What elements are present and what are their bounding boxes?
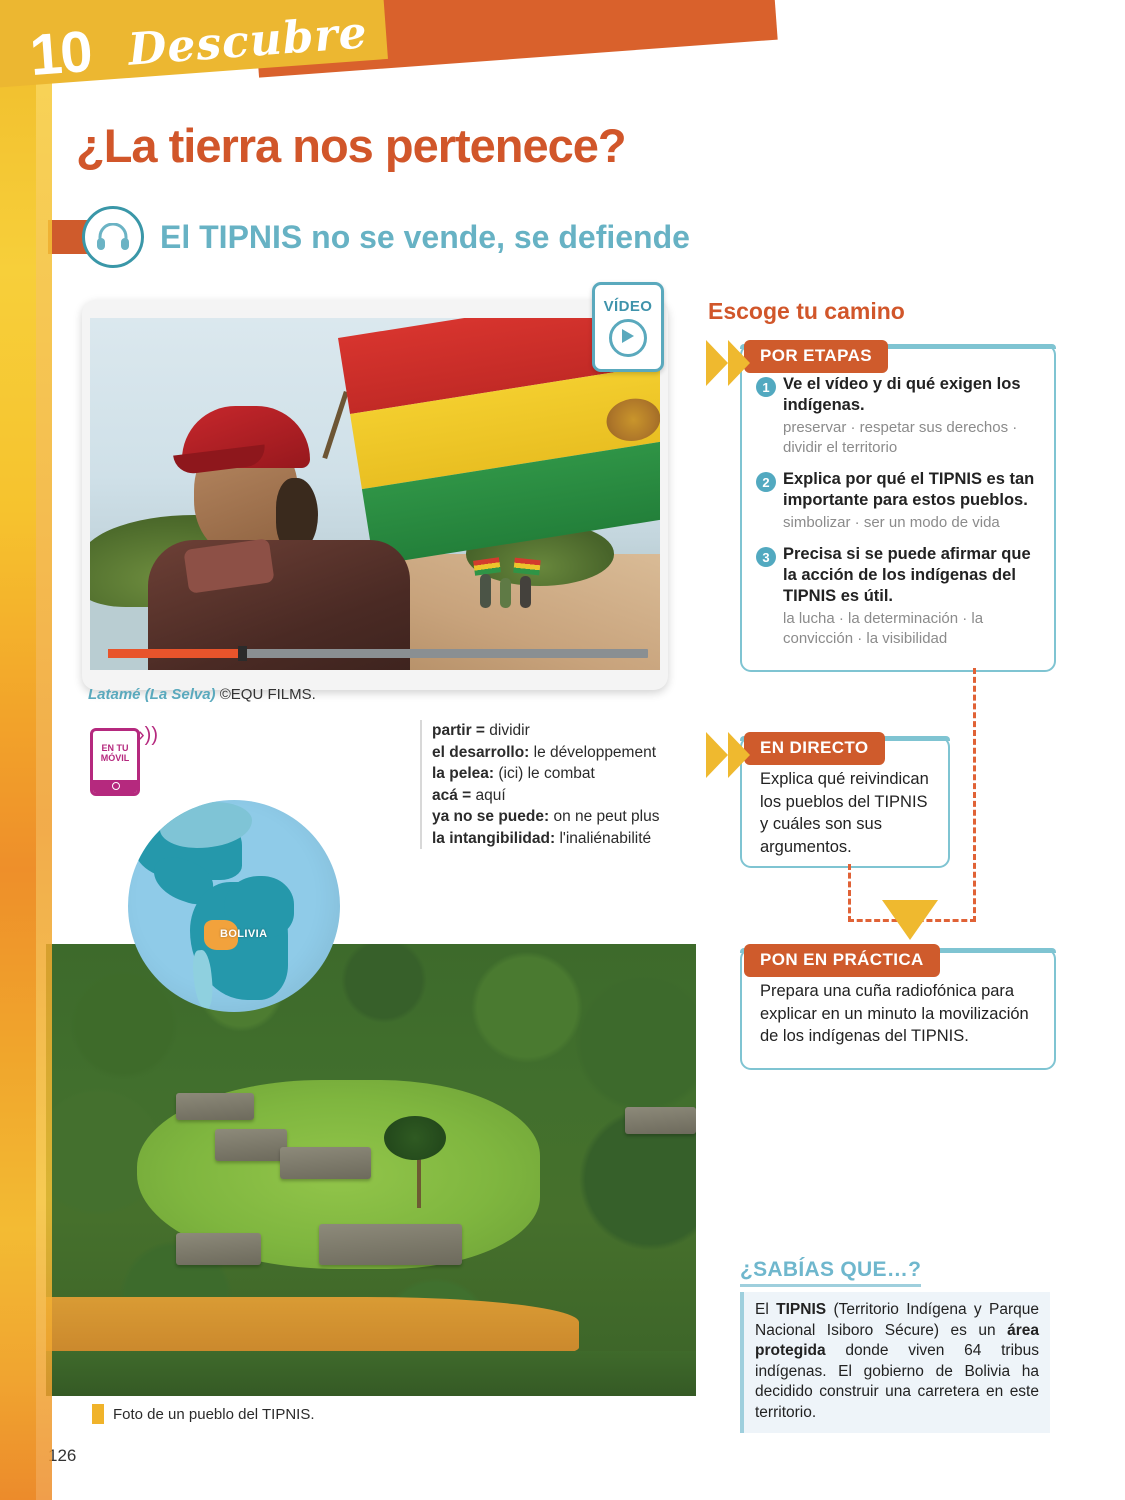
step-hint: simbolizar · ser un modo de vida [783, 513, 1042, 533]
section-subtitle: El TIPNIS no se vende, se defiende [160, 219, 690, 256]
video-frame[interactable] [90, 318, 660, 670]
headphones-icon [82, 206, 144, 268]
video-caption-credit: ©EQU FILMS. [216, 686, 316, 703]
video-badge[interactable]: VÍDEO [592, 282, 664, 372]
sabias-text: El [755, 1301, 776, 1318]
tag-pon-en-practica: PON EN PRÁCTICA [744, 944, 940, 977]
step-text: Precisa si se puede afirmar que la acció… [783, 544, 1042, 649]
sabias-que-heading: ¿SABÍAS QUE…? [740, 1258, 921, 1287]
photo-hut [319, 1224, 462, 1265]
photo-riverbank [46, 1351, 696, 1396]
video-card[interactable] [82, 300, 668, 690]
play-icon[interactable] [609, 319, 647, 357]
photo-palm-crown [384, 1116, 446, 1160]
mobile-line1: EN TU [102, 743, 129, 753]
globe-americas-icon: BOLIVIA [128, 800, 340, 1012]
vocab-item: acá = aquí [432, 785, 702, 807]
step-hint: la lucha · la determinación · la convicc… [783, 609, 1042, 649]
step-item: 1 Ve el vídeo y di qué exigen los indíge… [756, 374, 1042, 458]
vocab-item: el desarrollo: le développement [432, 742, 702, 764]
photo-hut [215, 1129, 287, 1161]
card-body-practica: Prepara una cuña radiofónica para explic… [760, 980, 1042, 1048]
tag-por-etapas: POR ETAPAS [744, 340, 888, 373]
connector-arrow-down-icon [882, 900, 938, 940]
vocab-item: la pelea: (ici) le combat [432, 763, 702, 785]
marchers-group [478, 556, 548, 608]
caption-accent-bar [92, 1404, 104, 1424]
vocab-item: partir = dividir [432, 720, 702, 742]
photo-hut [280, 1147, 371, 1179]
vocabulary-list: partir = dividir el desarrollo: le dével… [420, 720, 702, 849]
chevron-icon-directo [706, 732, 758, 778]
sabias-bold-term: TIPNIS [776, 1301, 826, 1318]
page-number: 126 [48, 1446, 76, 1466]
step-text: Ve el vídeo y di qué exigen los indígena… [783, 374, 1042, 458]
card-body-directo: Explica qué reivindican los pueblos del … [760, 768, 936, 858]
vocab-item: la intangibilidad: l'inaliénabilité [432, 828, 702, 850]
video-caption-title: Latamé (La Selva) [88, 686, 216, 703]
video-progress-fill [108, 649, 240, 658]
step-item: 3 Precisa si se puede afirmar que la acc… [756, 544, 1042, 649]
bolivia-label: BOLIVIA [220, 928, 267, 940]
vocab-item: ya no se puede: on ne peut plus [432, 806, 702, 828]
sabias-que-box: ¿SABÍAS QUE…? El TIPNIS (Territorio Indí… [740, 1258, 1050, 1433]
connector-line-vertical-left [848, 864, 851, 922]
photo-hut [625, 1107, 697, 1134]
step-hint: preservar · respetar sus derechos · divi… [783, 418, 1042, 458]
photo-hut [176, 1233, 261, 1265]
right-column-title: Escoge tu camino [708, 298, 905, 325]
video-caption: Latamé (La Selva) ©EQU FILMS. [88, 686, 316, 703]
left-gradient-spine-shade [36, 0, 52, 1500]
step-number: 2 [756, 472, 776, 492]
step-item: 2 Explica por qué el TIPNIS es tan impor… [756, 469, 1042, 533]
chevron-icon-etapas [706, 340, 758, 386]
steps-list: 1 Ve el vídeo y di qué exigen los indíge… [756, 374, 1042, 660]
page-title: ¿La tierra nos pertenece? [76, 118, 626, 173]
photo-hut [176, 1093, 254, 1120]
chapter-number: 10 [28, 18, 93, 89]
sabias-que-body: El TIPNIS (Territorio Indígena y Parque … [740, 1292, 1050, 1433]
card-por-etapas: 1 Ve el vídeo y di qué exigen los indíge… [740, 344, 1056, 672]
connector-line-vertical-right [973, 668, 976, 922]
step-number: 1 [756, 377, 776, 397]
video-badge-label: VÍDEO [604, 298, 653, 315]
mobile-line2: MÓVIL [101, 753, 130, 763]
mobile-audio-icon[interactable]: EN TUMÓVIL [90, 728, 140, 796]
video-progress-knob[interactable] [238, 646, 247, 661]
step-number: 3 [756, 547, 776, 567]
video-progress-bar[interactable] [108, 649, 648, 658]
left-gradient-spine [0, 0, 36, 1500]
village-photo [46, 944, 696, 1396]
subtitle-row: El TIPNIS no se vende, se defiende [48, 206, 690, 268]
photo-caption-text: Foto de un pueblo del TIPNIS. [113, 1406, 315, 1423]
photo-caption: Foto de un pueblo del TIPNIS. [92, 1404, 315, 1424]
step-text: Explica por qué el TIPNIS es tan importa… [783, 469, 1042, 533]
audio-waves-icon: ›)) [138, 724, 160, 748]
tag-en-directo: EN DIRECTO [744, 732, 885, 765]
